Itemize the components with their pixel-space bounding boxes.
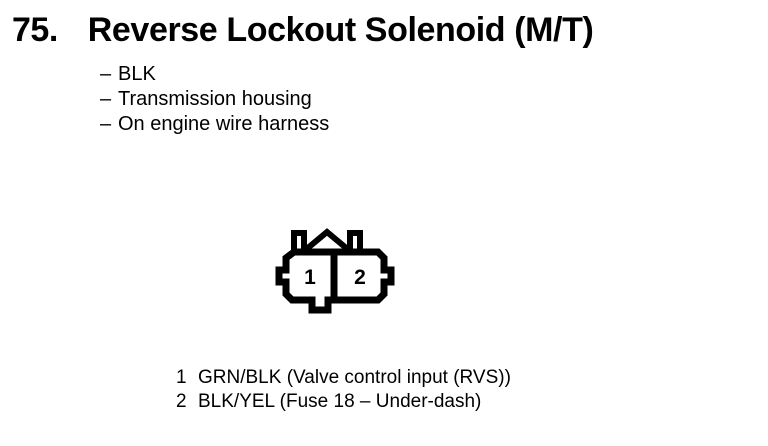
cavity-number-2: 2 bbox=[354, 266, 366, 289]
legend-pin-number: 2 bbox=[176, 390, 198, 414]
connector-outline-group bbox=[279, 232, 391, 310]
list-item: – BLK bbox=[100, 62, 620, 87]
list-item: 2 BLK/YEL (Fuse 18 – Under-dash) bbox=[176, 390, 736, 414]
connector-illustration-svg: 1 2 bbox=[268, 222, 438, 332]
pin-legend: 1 GRN/BLK (Valve control input (RVS)) 2 … bbox=[176, 366, 736, 414]
cavity-number-1: 1 bbox=[304, 266, 316, 289]
list-item: 1 GRN/BLK (Valve control input (RVS)) bbox=[176, 366, 736, 390]
dash-bullet-icon: – bbox=[100, 87, 118, 112]
page-heading: 75. Reverse Lockout Solenoid (M/T) bbox=[12, 10, 756, 52]
legend-pin-description: GRN/BLK (Valve control input (RVS)) bbox=[198, 366, 511, 390]
heading-item-number: 75. bbox=[12, 10, 58, 50]
list-item: – Transmission housing bbox=[100, 87, 620, 112]
page-title: Reverse Lockout Solenoid (M/T) bbox=[88, 10, 594, 50]
legend-pin-description: BLK/YEL (Fuse 18 – Under-dash) bbox=[198, 390, 481, 414]
dash-bullet-icon: – bbox=[100, 62, 118, 87]
legend-pin-number: 1 bbox=[176, 366, 198, 390]
list-item-label: BLK bbox=[118, 62, 156, 87]
connector-diagram: 1 2 bbox=[268, 222, 438, 332]
list-item-label: On engine wire harness bbox=[118, 112, 329, 137]
diagram-page: 75. Reverse Lockout Solenoid (M/T) – BLK… bbox=[0, 0, 768, 446]
list-item-label: Transmission housing bbox=[118, 87, 312, 112]
list-item: – On engine wire harness bbox=[100, 112, 620, 137]
component-spec-list: – BLK – Transmission housing – On engine… bbox=[100, 62, 620, 137]
dash-bullet-icon: – bbox=[100, 112, 118, 137]
